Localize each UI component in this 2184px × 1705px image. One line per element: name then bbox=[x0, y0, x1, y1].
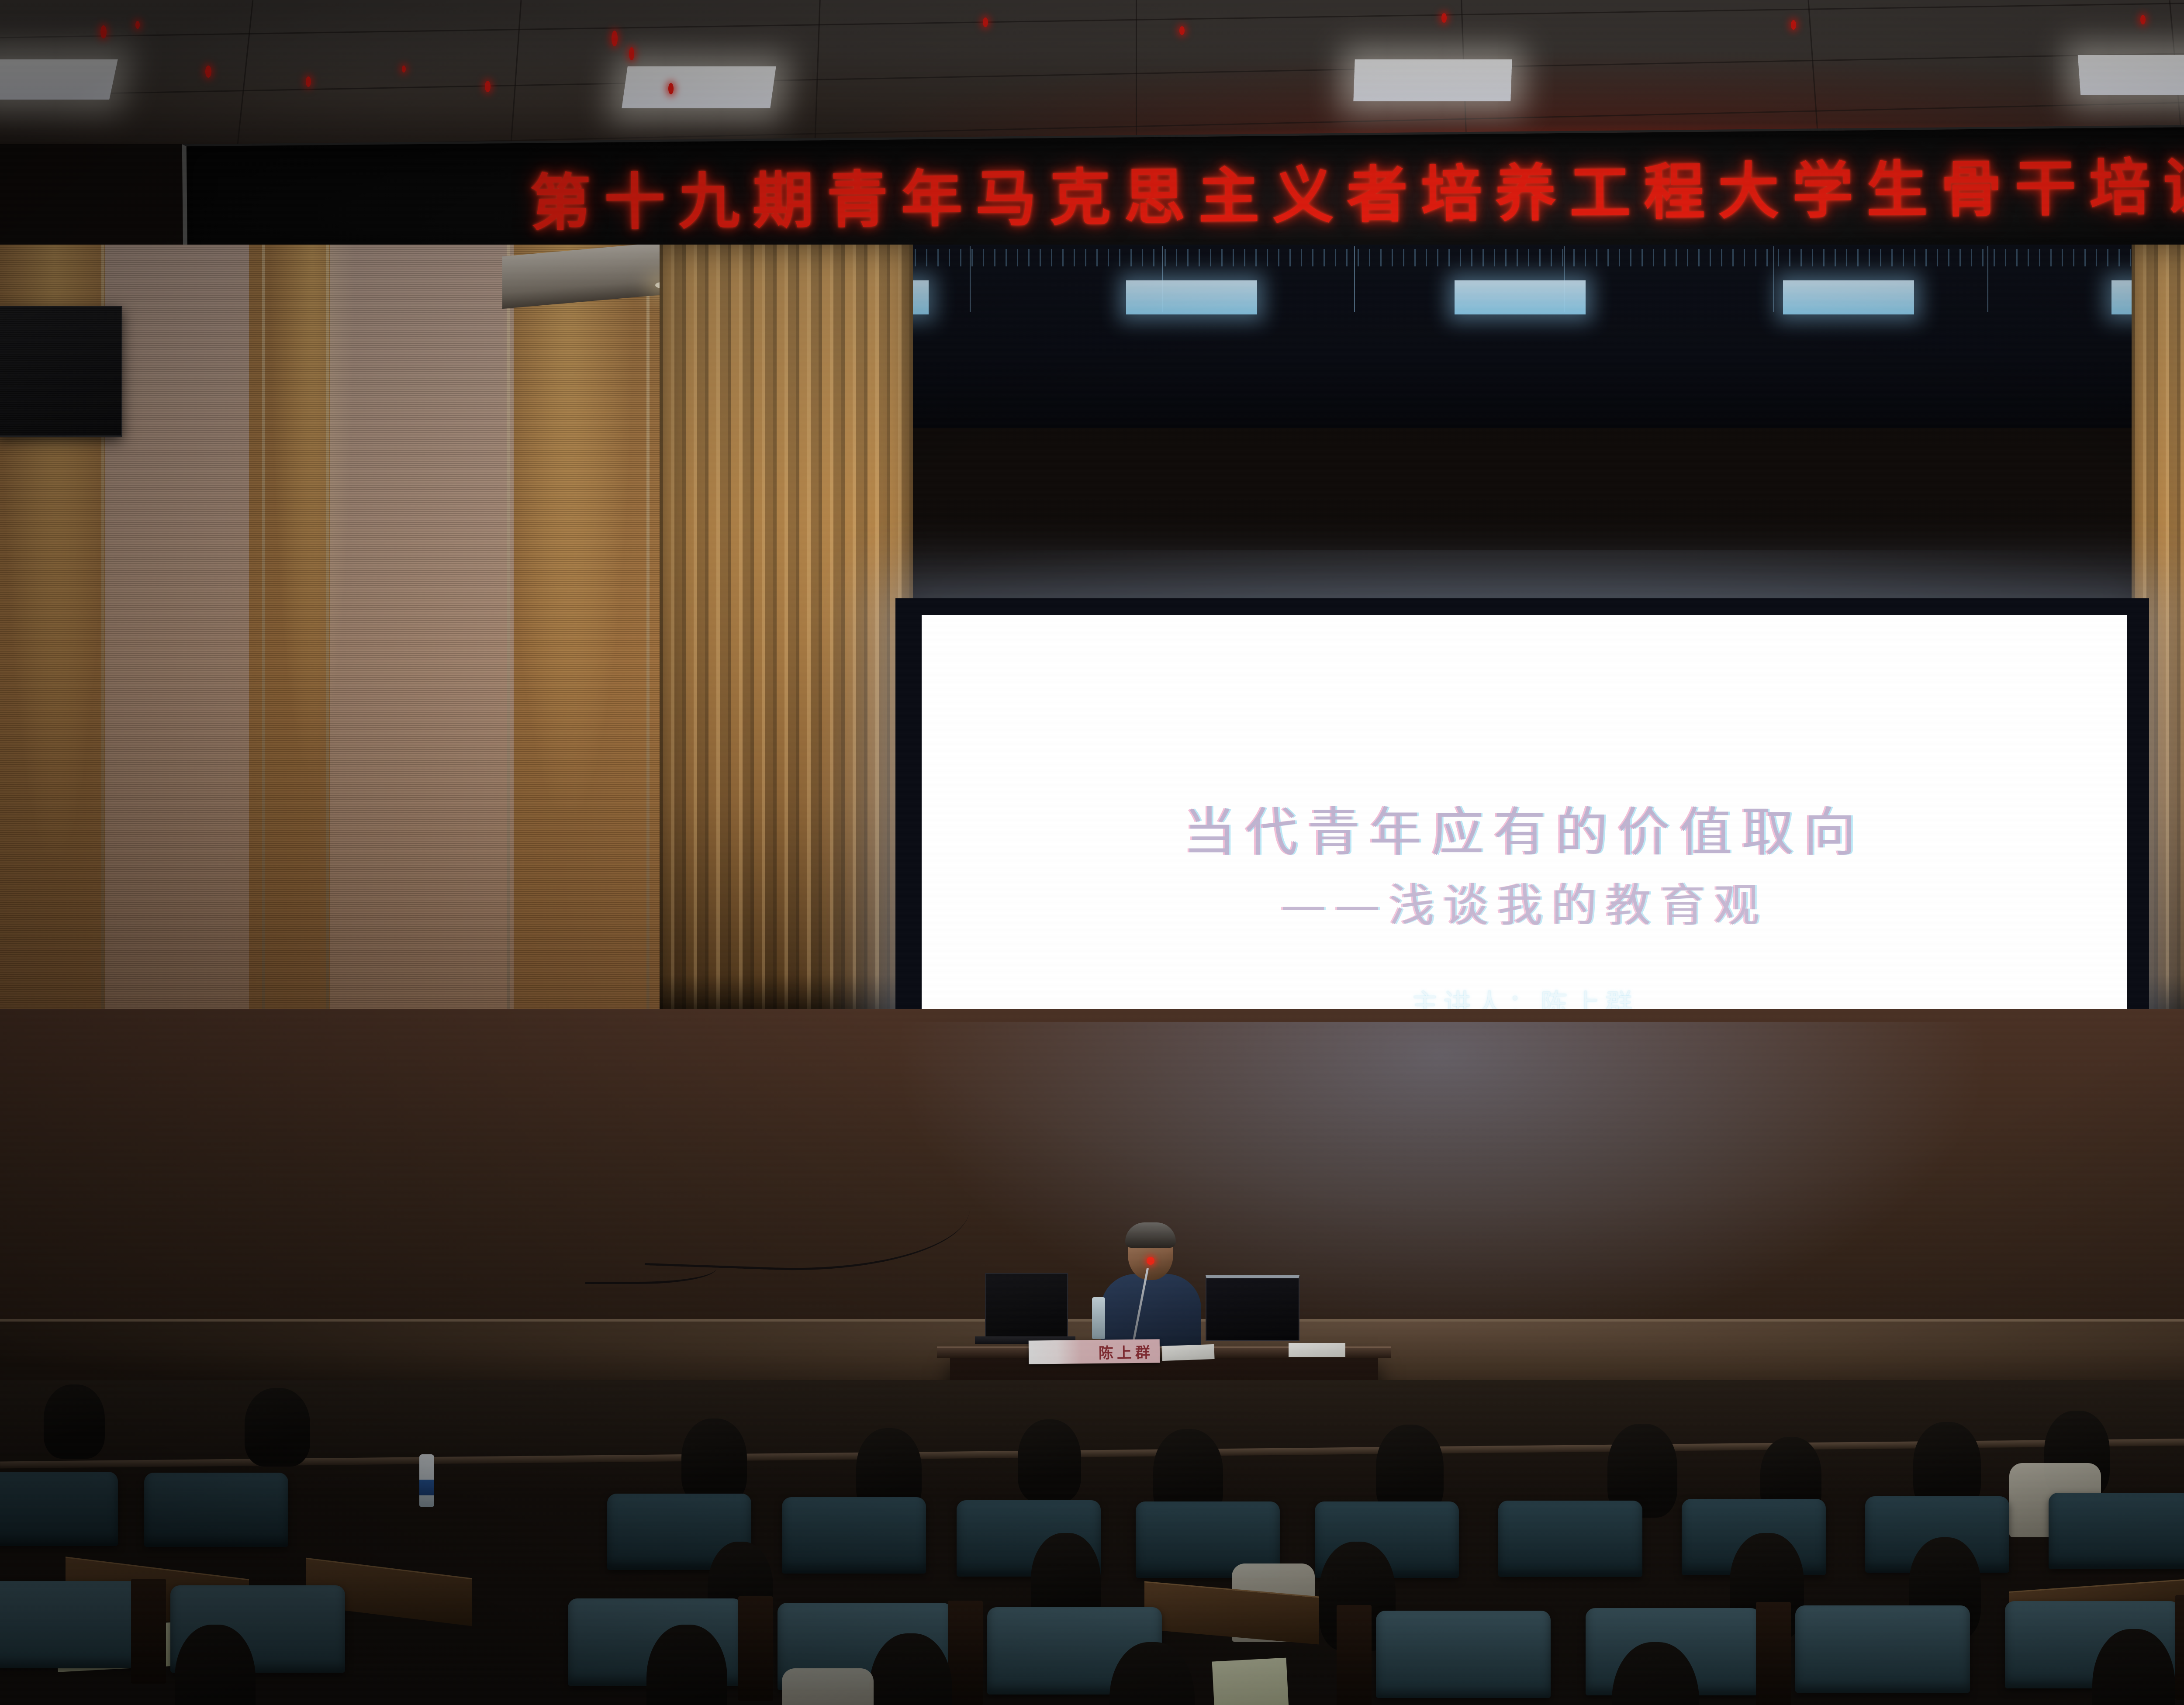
audience-seat bbox=[0, 1581, 140, 1668]
banner-reflection-dot bbox=[306, 76, 311, 87]
water-bottle bbox=[1092, 1297, 1105, 1339]
banner-reflection-dot bbox=[2140, 15, 2146, 24]
ceiling-light-panel bbox=[1353, 59, 1512, 101]
ceiling-light-panel bbox=[622, 66, 776, 108]
audience-seat bbox=[1498, 1501, 1642, 1577]
ceiling-tile-line bbox=[1136, 0, 1137, 144]
curtain-hem bbox=[660, 974, 913, 1013]
wall-warm-wash bbox=[502, 245, 633, 812]
stage-curtain-left bbox=[660, 245, 913, 1013]
audience-head bbox=[1018, 1419, 1081, 1502]
room-interior: 当代青年应有的价值取向 ——浅谈我的教育观 主讲人：陈上群 陈上群 bbox=[0, 245, 2184, 1705]
wall-warm-wash bbox=[271, 245, 354, 769]
seat-divider bbox=[131, 1579, 166, 1684]
audience-seat bbox=[0, 1472, 118, 1546]
stage-light-row bbox=[699, 265, 2184, 330]
banner-reflection-dot bbox=[1441, 13, 1447, 23]
seat-divider bbox=[2175, 1595, 2184, 1700]
banner-reflection-dot bbox=[135, 21, 140, 29]
led-banner-text: 第十九期青年马克思主义者培养工程大学生骨干培训班专题报告 bbox=[516, 153, 2184, 235]
audience-head bbox=[44, 1384, 105, 1459]
confidence-monitor bbox=[1206, 1275, 1299, 1341]
banner-reflection-dot bbox=[668, 83, 674, 94]
seat-divider bbox=[1756, 1602, 1791, 1705]
water-bottle bbox=[419, 1454, 434, 1507]
wall-loudspeaker bbox=[0, 306, 122, 437]
stage-light-panel bbox=[1455, 280, 1586, 314]
banner-reflection-dot bbox=[205, 66, 211, 78]
banner-reflection-dot bbox=[983, 17, 988, 27]
stage-light-panel bbox=[1783, 280, 1914, 314]
audience-seat bbox=[1795, 1605, 1970, 1693]
audience-seat bbox=[2049, 1493, 2184, 1569]
banner-reflection-dot bbox=[485, 81, 491, 92]
ceiling bbox=[0, 0, 2184, 144]
seat-divider bbox=[738, 1596, 773, 1701]
proscenium-header bbox=[699, 245, 2184, 428]
slide-title: 当代青年应有的价值取向 bbox=[922, 790, 2127, 866]
seat-divider bbox=[1337, 1605, 1372, 1705]
auditorium-photo: 第十九期青年马克思主义者培养工程大学生骨干培训班专题报告 bbox=[0, 0, 2184, 1705]
seat-divider bbox=[948, 1601, 983, 1705]
desk-papers bbox=[1289, 1343, 1345, 1357]
presenter-nameplate: 陈上群 bbox=[1029, 1339, 1160, 1364]
audience-seating bbox=[0, 1380, 2184, 1705]
audience-seat bbox=[1376, 1611, 1551, 1698]
audience-head bbox=[681, 1419, 747, 1504]
presenter-hair bbox=[1125, 1222, 1176, 1248]
audience-seat bbox=[782, 1497, 926, 1574]
open-notebook bbox=[1212, 1658, 1291, 1705]
slide-subtitle: ——浅谈我的教育观 bbox=[922, 868, 2127, 934]
stage-light-panel bbox=[1126, 280, 1257, 314]
wall-warm-wash bbox=[0, 245, 109, 856]
lighting-truss bbox=[699, 249, 2184, 266]
ceiling-red-reflection bbox=[0, 0, 2184, 144]
banner-reflection-dot bbox=[1179, 26, 1185, 35]
audience-head bbox=[245, 1388, 310, 1467]
audience-seat bbox=[144, 1473, 288, 1547]
ceiling-light-panel bbox=[0, 59, 118, 100]
banner-reflection-dot bbox=[1791, 20, 1796, 30]
desk-microphone-indicator bbox=[1147, 1257, 1154, 1265]
presenter-nameplate-text: 陈上群 bbox=[1099, 1340, 1154, 1362]
banner-reflection-dot bbox=[612, 31, 618, 46]
laptop-computer bbox=[985, 1273, 1068, 1339]
audience-shirt bbox=[782, 1668, 874, 1705]
desk-papers bbox=[1161, 1344, 1214, 1361]
ceiling-light-panel bbox=[2078, 55, 2184, 95]
seating-rail bbox=[0, 1430, 2184, 1469]
banner-reflection-dot bbox=[100, 25, 107, 38]
banner-reflection-dot bbox=[402, 66, 406, 72]
banner-reflection-dot bbox=[629, 47, 634, 60]
